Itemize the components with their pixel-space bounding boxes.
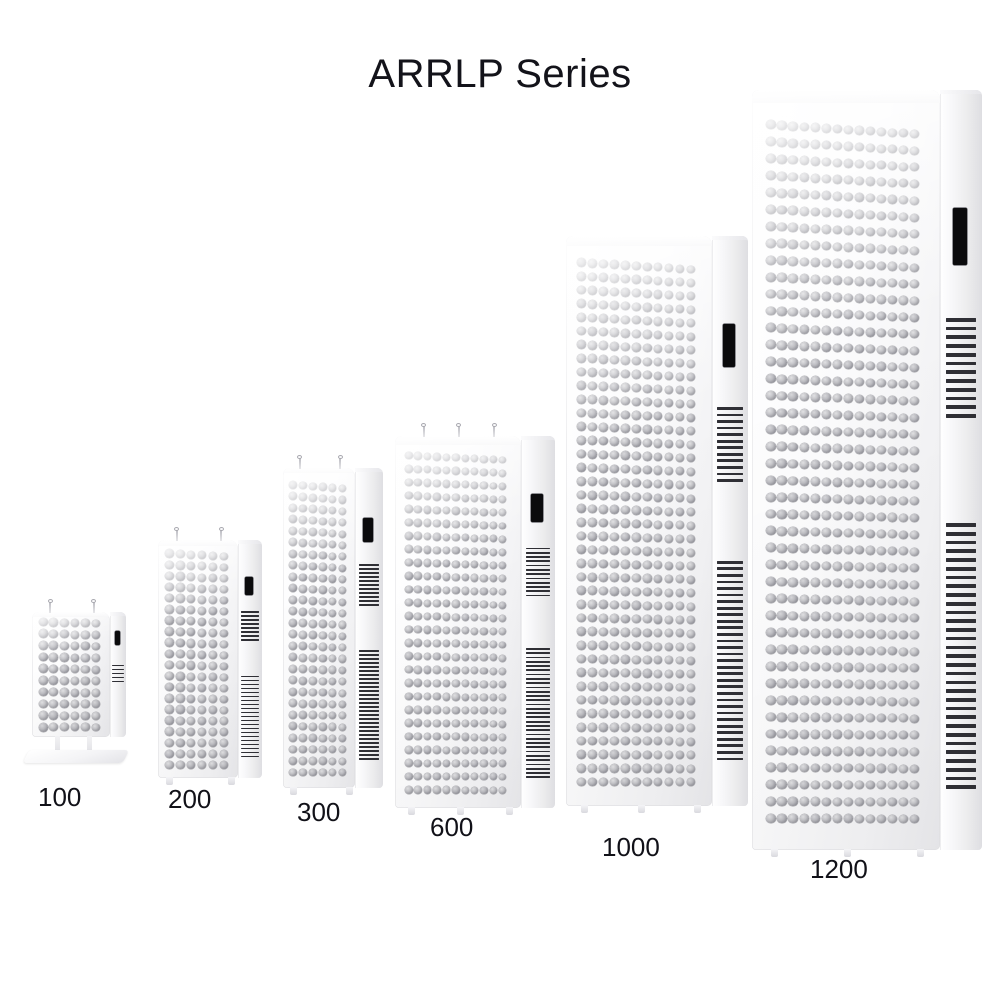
- led-dot: [81, 677, 89, 685]
- led-dot: [687, 441, 695, 449]
- led-dot: [844, 159, 853, 167]
- led-dot: [490, 628, 497, 635]
- led-dot: [329, 621, 337, 628]
- vent-slot: [526, 569, 551, 571]
- led-dot: [471, 574, 478, 581]
- led-dot: [299, 654, 307, 662]
- led-dot: [452, 574, 459, 581]
- side-face: [712, 236, 748, 806]
- product-panel-300[interactable]: [283, 468, 383, 788]
- product-panel-100[interactable]: [32, 612, 126, 737]
- led-dot: [899, 296, 907, 304]
- vent-slot: [241, 724, 258, 726]
- led-dot: [643, 276, 652, 284]
- led-dot: [899, 631, 907, 639]
- led-dot: [899, 614, 907, 622]
- led-dot: [414, 733, 422, 740]
- led-dot: [599, 314, 608, 323]
- led-dot: [471, 614, 478, 621]
- led-dot: [687, 603, 695, 611]
- led-dot: [899, 731, 907, 739]
- led-dot: [71, 689, 79, 697]
- display-window[interactable]: [115, 631, 120, 645]
- vent-slot: [241, 756, 258, 758]
- led-dot: [319, 757, 327, 764]
- panel-foot: [408, 807, 415, 815]
- led-dot: [910, 447, 918, 455]
- led-dot: [844, 546, 853, 554]
- led-dot: [888, 748, 896, 756]
- led-dot: [424, 746, 432, 753]
- led-dot: [888, 530, 896, 538]
- led-dot: [687, 616, 695, 624]
- vent-slot: [526, 556, 551, 558]
- led-dot: [39, 629, 48, 638]
- led-dot: [866, 312, 875, 320]
- led-dot: [855, 462, 864, 470]
- vent-slot: [526, 734, 551, 736]
- led-dot: [833, 243, 842, 251]
- vent-slot: [526, 682, 551, 684]
- led-dot: [599, 764, 608, 773]
- led-dot: [39, 664, 48, 673]
- led-dot: [198, 629, 206, 637]
- vent-slot: [241, 623, 258, 625]
- led-dot: [654, 575, 662, 583]
- led-dot: [621, 288, 630, 296]
- led-dot: [833, 327, 842, 335]
- led-dot: [632, 398, 641, 406]
- product-panel-600[interactable]: [395, 436, 555, 808]
- led-dot: [888, 547, 896, 555]
- led-dot: [610, 410, 619, 419]
- led-dot: [800, 140, 809, 149]
- led-dot: [899, 280, 907, 288]
- led-dot: [433, 613, 441, 620]
- led-dot: [766, 560, 775, 569]
- led-dot: [499, 655, 506, 662]
- led-dot: [599, 341, 608, 350]
- led-dot: [665, 440, 673, 448]
- led-dot: [452, 587, 459, 594]
- led-dot: [766, 662, 775, 671]
- led-dot: [599, 628, 608, 637]
- led-dot: [490, 641, 497, 648]
- vent-slot: [717, 744, 743, 747]
- led-dot: [855, 647, 864, 655]
- led-dot: [877, 496, 886, 504]
- led-dot: [766, 510, 775, 519]
- led-dot: [654, 345, 662, 353]
- vent-slot: [359, 746, 379, 748]
- led-dot: [888, 714, 896, 722]
- led-dot: [599, 560, 608, 569]
- led-dot: [687, 454, 695, 462]
- led-dot: [910, 481, 918, 489]
- led-dot: [687, 319, 695, 327]
- led-dot: [187, 706, 196, 714]
- led-dot: [687, 630, 695, 638]
- led-dot: [632, 764, 641, 772]
- vent-slot: [526, 708, 551, 710]
- led-dot: [910, 330, 918, 338]
- led-dot: [452, 481, 459, 488]
- led-dot: [899, 196, 907, 204]
- led-dot: [899, 581, 907, 589]
- led-dot: [621, 696, 630, 704]
- led-dot: [844, 781, 853, 789]
- led-dot: [777, 138, 786, 147]
- led-dot: [910, 197, 918, 205]
- led-dot: [176, 761, 185, 769]
- led-dot: [654, 399, 662, 407]
- led-dot: [777, 409, 786, 418]
- vent-slot: [526, 552, 551, 554]
- led-dot: [610, 587, 619, 596]
- led-dot: [588, 518, 597, 527]
- led-dot: [643, 452, 652, 460]
- led-dot: [471, 521, 478, 528]
- led-dot: [405, 559, 413, 567]
- led-dot: [499, 457, 506, 464]
- led-dot: [339, 576, 346, 583]
- led-dot: [777, 256, 786, 265]
- led-dot: [766, 256, 775, 265]
- led-dot: [610, 424, 619, 433]
- led-dot: [176, 717, 185, 725]
- led-dot: [899, 547, 907, 555]
- led-dot: [329, 541, 337, 548]
- led-dot: [654, 683, 662, 691]
- led-dot: [800, 274, 809, 283]
- led-dot: [844, 579, 853, 587]
- led-dot: [766, 188, 775, 197]
- led-dot: [165, 705, 174, 714]
- led-dot: [833, 629, 842, 637]
- led-dot: [777, 290, 786, 299]
- led-dot: [654, 778, 662, 786]
- led-dot: [822, 545, 831, 554]
- vent-slot: [526, 590, 551, 592]
- led-dot: [405, 492, 413, 500]
- hanging-post: [176, 529, 178, 541]
- led-dot: [319, 735, 327, 742]
- vent-group: [940, 523, 982, 797]
- led-dot: [665, 291, 673, 299]
- led-dot: [822, 158, 831, 167]
- led-dot: [621, 329, 630, 337]
- led-dot: [621, 438, 630, 446]
- led-dot: [480, 773, 487, 780]
- led-dot: [424, 546, 432, 553]
- led-dot: [866, 815, 875, 823]
- led-dot: [822, 663, 831, 672]
- led-dot: [777, 814, 786, 823]
- vent-slot: [946, 405, 976, 409]
- led-dot: [610, 315, 619, 324]
- led-dot: [877, 346, 886, 354]
- led-dot: [339, 712, 346, 719]
- led-dot: [220, 750, 228, 758]
- led-dot: [676, 589, 684, 597]
- vent-slot: [717, 659, 743, 662]
- led-dot: [877, 781, 886, 789]
- led-dot: [888, 798, 896, 806]
- led-dot: [480, 522, 487, 529]
- led-dot: [855, 361, 864, 369]
- led-dot: [877, 145, 886, 153]
- led-dot: [289, 769, 297, 777]
- led-dot: [319, 769, 327, 776]
- led-dot: [844, 294, 853, 302]
- led-dot: [833, 495, 842, 503]
- led-dot: [888, 480, 896, 488]
- vent-slot: [526, 669, 551, 671]
- panel-foot: [290, 787, 297, 795]
- led-dot: [588, 423, 597, 432]
- led-dot: [811, 612, 820, 621]
- product-panel-1200[interactable]: [752, 90, 982, 850]
- led-dot: [632, 370, 641, 378]
- led-dot: [910, 765, 918, 773]
- led-dot: [610, 737, 619, 746]
- led-dot: [833, 747, 842, 755]
- led-dot: [165, 694, 174, 703]
- product-panel-1000[interactable]: [566, 236, 748, 806]
- led-dot: [888, 430, 896, 438]
- led-dot: [462, 641, 469, 648]
- led-dot: [490, 694, 497, 701]
- led-dot: [39, 700, 48, 709]
- led-dot: [610, 750, 619, 759]
- led-dot: [888, 815, 896, 823]
- led-dot: [777, 121, 786, 130]
- led-dot: [339, 678, 346, 685]
- led-dot: [462, 733, 469, 740]
- led-dot: [405, 599, 413, 607]
- led-dot: [289, 665, 297, 673]
- led-dot: [665, 264, 673, 272]
- led-dot: [187, 661, 196, 669]
- led-dot: [452, 494, 459, 501]
- led-dot: [610, 642, 619, 651]
- led-dot: [405, 586, 413, 594]
- led-dot: [800, 511, 809, 520]
- led-dot: [220, 619, 228, 627]
- led-dot: [490, 483, 497, 490]
- led-dot: [844, 680, 853, 688]
- led-dot: [480, 615, 487, 622]
- led-dot: [855, 378, 864, 386]
- led-dot: [621, 547, 630, 555]
- led-dot: [866, 211, 875, 219]
- led-dot: [654, 629, 662, 637]
- led-dot: [577, 368, 586, 377]
- led-dot: [433, 533, 441, 540]
- led-dot: [877, 195, 886, 203]
- led-dot: [788, 780, 797, 789]
- led-dot: [81, 654, 89, 662]
- led-dot: [822, 478, 831, 487]
- led-dot: [599, 437, 608, 446]
- vent-slot: [946, 549, 976, 553]
- led-dot: [676, 738, 684, 746]
- led-dot: [187, 584, 196, 592]
- led-dot: [855, 781, 864, 789]
- led-dot: [676, 643, 684, 651]
- led-grid: [566, 236, 712, 806]
- led-dot: [621, 710, 630, 718]
- led-dot: [777, 155, 786, 164]
- led-dot: [443, 480, 451, 487]
- panel-foot: [228, 777, 235, 785]
- led-dot: [866, 278, 875, 286]
- led-dot: [471, 628, 478, 635]
- led-dot: [777, 679, 786, 688]
- led-dot: [687, 643, 695, 651]
- led-dot: [822, 798, 831, 807]
- vent-slot: [946, 777, 976, 781]
- led-dot: [687, 400, 695, 408]
- led-dot: [687, 481, 695, 489]
- led-dot: [665, 278, 673, 286]
- vent-slot: [526, 578, 551, 580]
- led-dot: [165, 650, 174, 659]
- vent-slot: [241, 619, 258, 621]
- led-dot: [643, 629, 652, 637]
- led-dot: [480, 707, 487, 714]
- vent-slot: [359, 722, 379, 724]
- vent-slot: [717, 705, 743, 708]
- led-dot: [309, 711, 317, 719]
- vent-slot: [946, 370, 976, 374]
- led-dot: [339, 485, 346, 492]
- led-dot: [309, 483, 317, 491]
- led-dot: [309, 757, 317, 765]
- led-dot: [92, 631, 100, 639]
- led-dot: [329, 507, 337, 514]
- led-dot: [289, 699, 297, 707]
- led-dot: [577, 340, 586, 349]
- led-dot: [405, 465, 413, 473]
- led-dot: [844, 747, 853, 755]
- led-dot: [811, 376, 820, 385]
- led-dot: [899, 263, 907, 271]
- led-dot: [822, 410, 831, 419]
- vent-slot: [946, 628, 976, 632]
- led-dot: [329, 518, 337, 525]
- led-dot: [766, 797, 775, 806]
- led-dot: [220, 707, 228, 715]
- led-dot: [209, 607, 217, 615]
- led-dot: [665, 494, 673, 502]
- led-dot: [588, 300, 597, 309]
- led-dot: [599, 641, 608, 650]
- led-dot: [877, 815, 886, 823]
- vent-slot: [946, 654, 976, 658]
- led-dot: [833, 159, 842, 167]
- vent-slot: [359, 584, 379, 586]
- led-dot: [676, 657, 684, 665]
- display-window[interactable]: [363, 518, 373, 542]
- led-dot: [632, 737, 641, 745]
- led-dot: [654, 561, 662, 569]
- led-dot: [800, 781, 809, 790]
- led-dot: [811, 393, 820, 402]
- led-dot: [198, 607, 206, 615]
- led-dot: [577, 463, 586, 472]
- led-dot: [866, 731, 875, 739]
- led-dot: [855, 496, 864, 504]
- led-dot: [910, 598, 918, 606]
- led-dot: [687, 589, 695, 597]
- led-dot: [866, 127, 875, 135]
- led-dot: [414, 760, 422, 767]
- led-dot: [811, 225, 820, 234]
- led-dot: [60, 712, 69, 720]
- led-dot: [424, 613, 432, 620]
- display-window[interactable]: [531, 494, 543, 522]
- led-dot: [822, 579, 831, 588]
- display-window[interactable]: [723, 324, 735, 367]
- vent-slot: [946, 689, 976, 693]
- led-dot: [643, 534, 652, 542]
- led-dot: [654, 385, 662, 393]
- led-grid: [158, 540, 238, 778]
- led-dot: [643, 317, 652, 325]
- led-dot: [405, 572, 413, 580]
- led-dot: [187, 717, 196, 725]
- led-dot: [319, 563, 327, 570]
- led-dot: [309, 734, 317, 742]
- led-dot: [766, 425, 775, 434]
- led-dot: [665, 453, 673, 461]
- product-panel-200[interactable]: [158, 540, 262, 778]
- display-window[interactable]: [245, 577, 253, 595]
- led-dot: [92, 654, 100, 662]
- led-dot: [676, 481, 684, 489]
- led-dot: [643, 358, 652, 366]
- led-dot: [599, 410, 608, 419]
- led-dot: [329, 553, 337, 560]
- led-dot: [462, 534, 469, 541]
- led-dot: [599, 546, 608, 555]
- led-dot: [676, 359, 684, 367]
- display-window[interactable]: [953, 208, 967, 265]
- led-dot: [329, 758, 337, 765]
- led-dot: [687, 387, 695, 395]
- led-dot: [833, 226, 842, 234]
- led-dot: [599, 750, 608, 759]
- vent-slot: [717, 672, 743, 675]
- led-dot: [676, 670, 684, 678]
- led-dot: [462, 587, 469, 594]
- led-dot: [877, 714, 886, 722]
- led-dot: [766, 391, 775, 400]
- led-dot: [877, 212, 886, 220]
- led-dot: [339, 769, 346, 776]
- led-dot: [220, 630, 228, 638]
- led-dot: [877, 547, 886, 555]
- led-dot: [910, 731, 918, 739]
- led-dot: [414, 746, 422, 753]
- vent-slot: [946, 733, 976, 737]
- led-dot: [220, 761, 228, 769]
- led-dot: [339, 508, 346, 515]
- led-dot: [899, 514, 907, 522]
- led-dot: [800, 797, 809, 806]
- led-dot: [165, 672, 174, 681]
